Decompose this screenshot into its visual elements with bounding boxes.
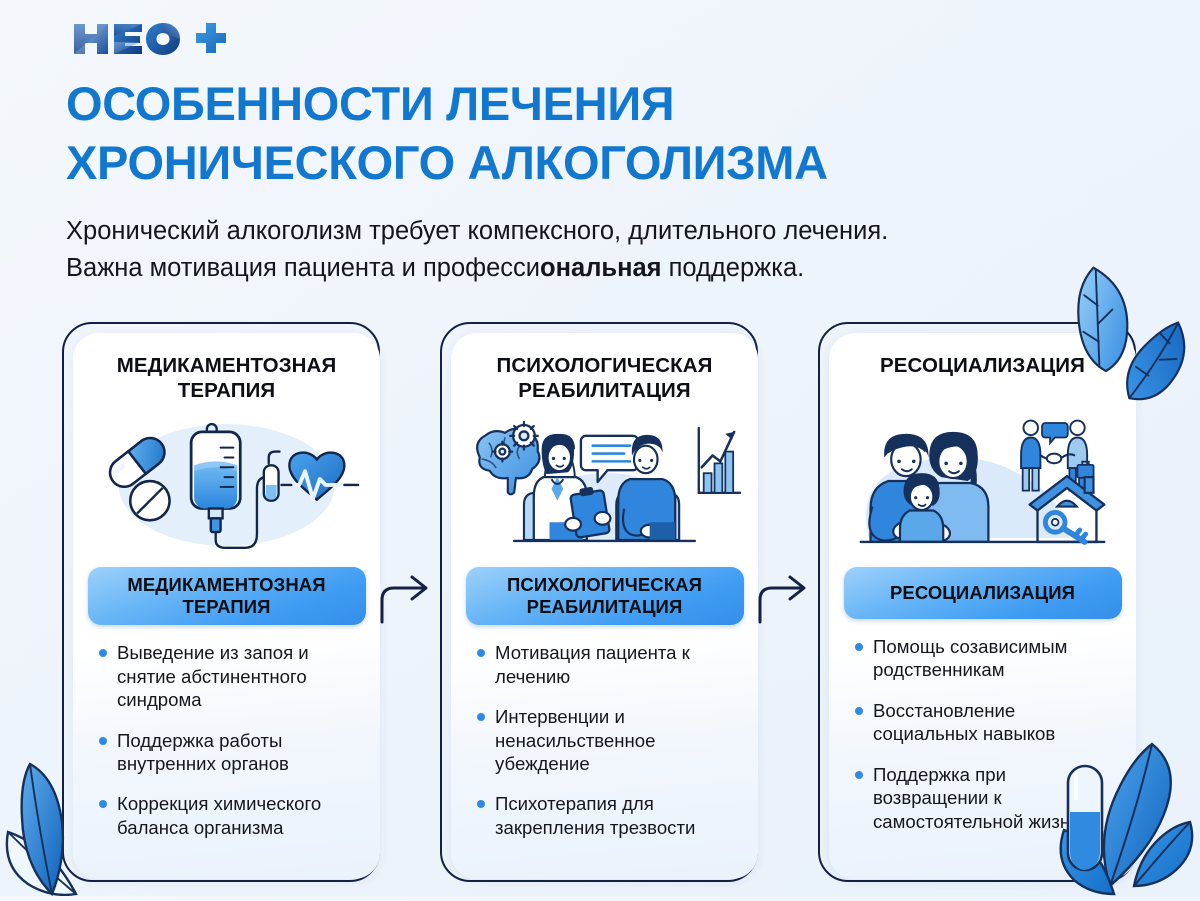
list-item: Помощь созависимым родственникам: [853, 635, 1122, 682]
list-item: Восстановление социальных навыков: [853, 699, 1122, 746]
list-item: Интервенции и ненасильственное убеждение: [475, 705, 744, 775]
page-title-line-1: ОСОБЕННОСТИ ЛЕЧЕНИЯ: [66, 74, 1146, 133]
card-title: МЕДИКАМЕНТОЗНАЯ ТЕРАПИЯ: [87, 353, 366, 403]
page-title-line-2: ХРОНИЧЕСКОГО АЛКОГОЛИЗМА: [66, 133, 1146, 192]
page-subtitle: Хронический алкоголизм требует компексно…: [66, 213, 1126, 287]
card-body: МЕДИКАМЕНТОЗНАЯ ТЕРАПИЯ: [73, 333, 380, 879]
brand-logo: [68, 16, 238, 62]
connector-arrow-2: [758, 322, 818, 882]
list-item: Выведение из запоя и снятие абстинентног…: [97, 641, 366, 711]
family-handshake-house-key-icon: [843, 409, 1122, 557]
list-item: Поддержка при возвращении к самостоятель…: [853, 763, 1122, 833]
arrow-right-icon: [758, 322, 818, 882]
card-badge[interactable]: ПСИХОЛОГИЧЕСКАЯ РЕАБИЛИТАЦИЯ: [466, 567, 744, 625]
list-item: Коррекция химического баланса организма: [97, 792, 366, 839]
list-item: Поддержка работы внутренних органов: [97, 729, 366, 776]
arrow-right-icon: [380, 322, 440, 882]
card-body: ПСИХОЛОГИЧЕСКАЯ РЕАБИЛИТАЦИЯ: [451, 333, 758, 879]
card-badge[interactable]: РЕСОЦИАЛИЗАЦИЯ: [844, 567, 1122, 619]
card-medication-therapy[interactable]: МЕДИКАМЕНТОЗНАЯ ТЕРАПИЯ: [62, 322, 380, 882]
page-title: ОСОБЕННОСТИ ЛЕЧЕНИЯ ХРОНИЧЕСКОГО АЛКОГОЛ…: [66, 74, 1146, 192]
infographic-page: ОСОБЕННОСТИ ЛЕЧЕНИЯ ХРОНИЧЕСКОГО АЛКОГОЛ…: [0, 0, 1200, 896]
list-item: Психотерапия для закрепления трезвости: [475, 792, 744, 839]
connector-arrow-1: [380, 322, 440, 882]
card-title: ПСИХОЛОГИЧЕСКАЯ РЕАБИЛИТАЦИЯ: [465, 353, 744, 403]
card-bullet-list: Мотивация пациента к лечению Интервенции…: [465, 641, 744, 856]
card-title: РЕСОЦИАЛИЗАЦИЯ: [880, 353, 1085, 403]
brain-gears-therapist-patient-growth-chart-icon: [465, 409, 744, 557]
subtitle-text-bold: ональная: [540, 254, 662, 282]
treatment-stages-row: МЕДИКАМЕНТОЗНАЯ ТЕРАПИЯ: [62, 322, 1140, 882]
card-bullet-list: Выведение из запоя и снятие абстинентног…: [87, 641, 366, 856]
page-subtitle-line-1: Хронический алкоголизм требует компексно…: [66, 213, 1126, 250]
neo-plus-logo-icon: [68, 16, 238, 62]
card-psychological-rehabilitation[interactable]: ПСИХОЛОГИЧЕСКАЯ РЕАБИЛИТАЦИЯ: [440, 322, 758, 882]
page-subtitle-line-2: Важна мотивация пациента и профессиональ…: [66, 250, 1126, 287]
card-badge[interactable]: МЕДИКАМЕНТОЗНАЯ ТЕРАПИЯ: [88, 567, 366, 625]
card-bullet-list: Помощь созависимым родственникам Восстан…: [843, 635, 1122, 850]
subtitle-text-plain-before: Важна мотивация пациента и професси: [66, 254, 540, 282]
subtitle-text-plain-after: поддержка.: [662, 254, 805, 282]
card-body: РЕСОЦИАЛИЗАЦИЯ: [829, 333, 1136, 879]
list-item: Мотивация пациента к лечению: [475, 641, 744, 688]
card-resocialization[interactable]: РЕСОЦИАЛИЗАЦИЯ: [818, 322, 1136, 882]
pills-iv-drip-heart-ecg-icon: [87, 409, 366, 557]
